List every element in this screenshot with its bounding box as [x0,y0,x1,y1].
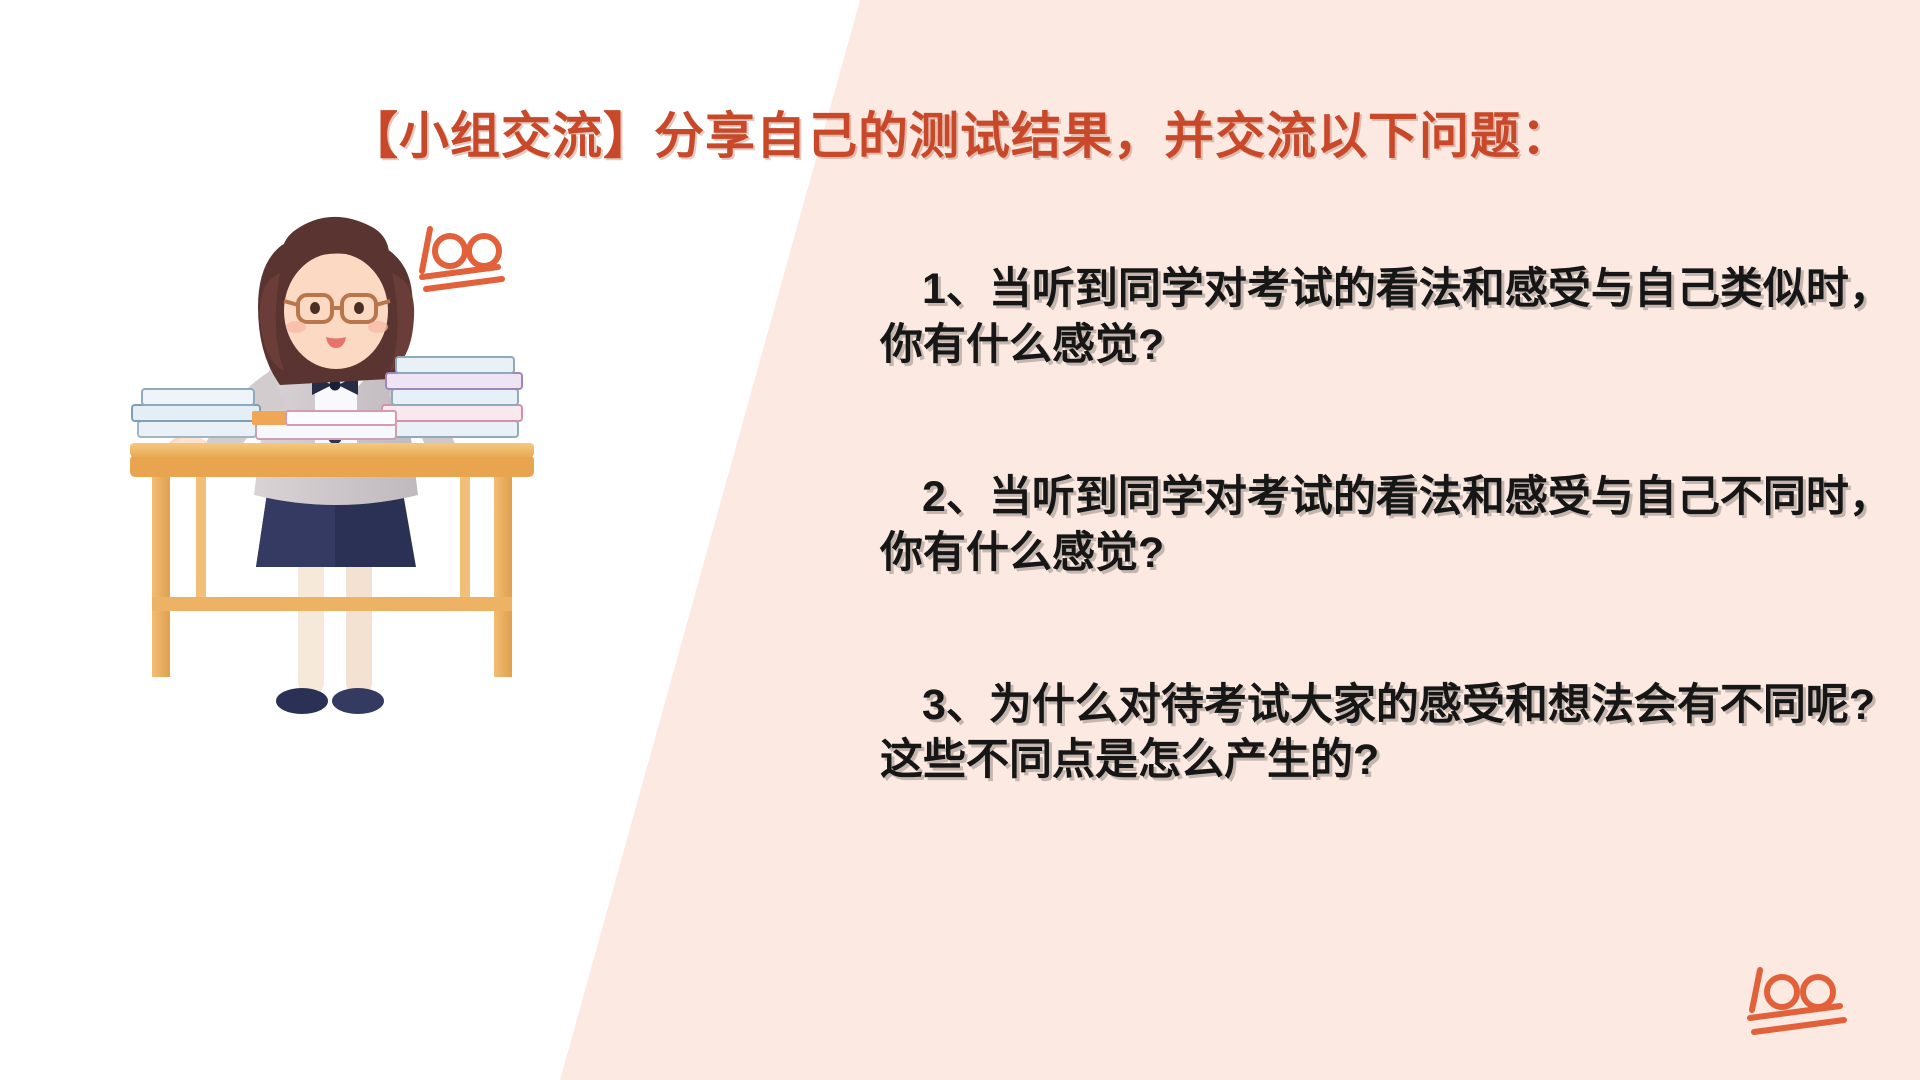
book-stack-left [132,389,260,437]
desk-leg-right [494,477,512,677]
question-item-2: 2、当听到同学对考试的看法和感受与自己不同时，你有什么感觉? [880,470,1900,582]
question-item-3: 3、为什么对待考试大家的感受和想法会有不同呢? 这些不同点是怎么产生的? [880,678,1900,790]
page-title: 【小组交流】分享自己的测试结果，并交流以下问题： [0,96,1920,168]
slide-canvas: 【小组交流】分享自己的测试结果，并交流以下问题： [0,0,1920,1080]
legs-and-shoes [276,545,384,714]
student-illustration [130,215,560,835]
desk-leg-left [152,477,170,677]
score-mark-100-corner-icon [1742,960,1862,1050]
score-mark-100 [422,229,502,289]
open-book-center [252,411,396,439]
question-item-1: 1、当听到同学对考试的看法和感受与自己类似时，你有什么感觉? [880,262,1900,374]
question-list: 1、当听到同学对考试的看法和感受与自己类似时，你有什么感觉? 2、当听到同学对考… [880,262,1900,789]
book-stack-right [382,357,522,437]
desk-rail [152,597,512,611]
head [258,217,414,385]
